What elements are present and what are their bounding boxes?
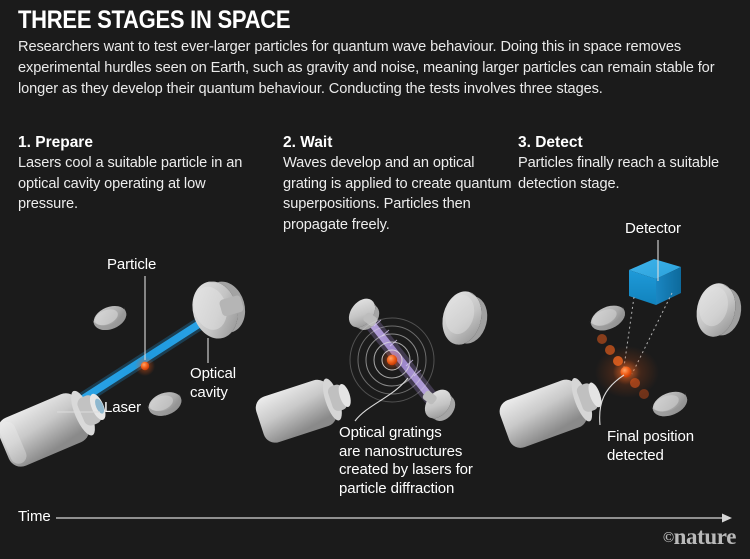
stage-title-detect: 3. Detect — [518, 133, 743, 152]
callout-laser: Laser — [104, 399, 141, 418]
optic-element — [437, 287, 493, 350]
stage-title-prepare: 1. Prepare — [18, 133, 268, 152]
leader-line-optical-gratings — [355, 378, 408, 421]
optic-element — [649, 387, 691, 421]
panel-detect-illustration — [496, 240, 746, 451]
stage-body-detect: Particles finally reach a suitable detec… — [518, 153, 743, 194]
particle-marker — [135, 356, 155, 376]
quantum-wave-rings — [350, 318, 434, 402]
page-title: THREE STAGES IN SPACE — [18, 6, 290, 34]
callout-particle: Particle — [107, 256, 156, 275]
leader-line-final-position — [600, 375, 624, 425]
infographic-root: THREE STAGES IN SPACE Researchers want t… — [0, 0, 750, 559]
particle-marker — [381, 349, 403, 371]
time-axis — [56, 514, 732, 523]
copyright-symbol: © — [663, 530, 674, 546]
nature-logo: ©nature — [663, 524, 736, 550]
laser-source — [0, 381, 113, 471]
standfirst-paragraph: Researchers want to test ever-larger par… — [18, 37, 730, 101]
stage-column-prepare: 1. Prepare Lasers cool a suitable partic… — [18, 133, 268, 215]
optic-element — [145, 388, 184, 420]
detector-cube — [629, 259, 681, 305]
grating-mirror-top — [343, 294, 385, 336]
detection-cone — [623, 293, 672, 374]
laser-source — [496, 370, 608, 452]
final-particle-marker — [613, 359, 639, 385]
stage-column-detect: 3. Detect Particles finally reach a suit… — [518, 133, 743, 194]
time-axis-label: Time — [18, 508, 51, 525]
callout-optical-gratings: Optical gratings are nanostructures crea… — [339, 424, 473, 498]
stage-title-wait: 2. Wait — [283, 133, 513, 152]
optical-cavity-mirror — [186, 274, 252, 344]
stage-body-prepare: Lasers cool a suitable particle in an op… — [18, 153, 268, 215]
nature-wordmark: nature — [674, 524, 736, 549]
grating-mirror-bottom — [415, 381, 461, 427]
optic-element — [692, 280, 746, 342]
optic-element — [587, 301, 629, 336]
callout-detector: Detector — [625, 220, 681, 239]
optic-element — [90, 301, 130, 334]
callout-final-position: Final position detected — [607, 428, 694, 465]
optic-element — [501, 405, 538, 436]
panel-wait-illustration — [253, 287, 539, 446]
stage-body-wait: Waves develop and an optical grating is … — [283, 153, 513, 235]
stage-column-wait: 2. Wait Waves develop and an optical gra… — [283, 133, 513, 235]
time-axis-arrowhead — [722, 514, 732, 523]
callout-optical-cavity: Optical cavity — [190, 365, 236, 402]
particle-trail — [595, 334, 659, 399]
optical-grating-beam — [369, 320, 431, 398]
